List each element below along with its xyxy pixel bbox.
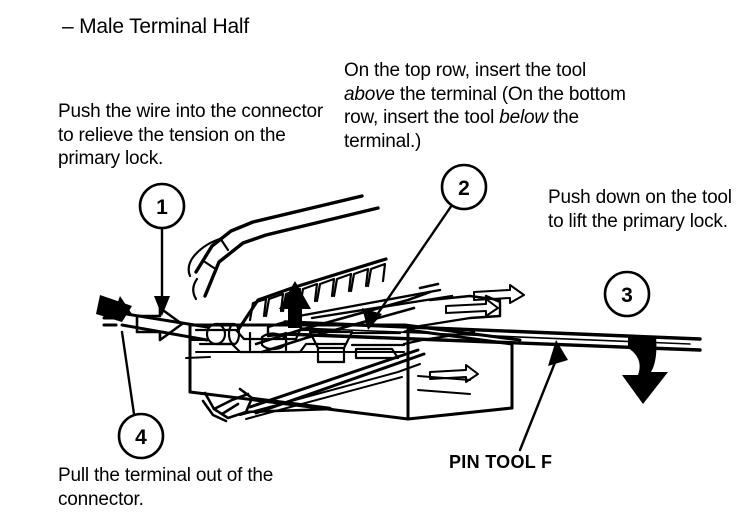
pin-tool-label: PIN TOOL F (449, 452, 552, 473)
note-2-part-1: On the top row, insert the tool (344, 60, 586, 81)
flow-arrow-small-4 (186, 357, 210, 358)
instruction-note-2: On the top row, insert the tool above th… (344, 59, 640, 153)
callout-circle-2: 2 (442, 165, 486, 209)
note-2-emphasis-below: below (499, 107, 548, 128)
instruction-note-1: Push the wire into the connector to reli… (58, 100, 338, 171)
push-down-arrow (622, 336, 668, 404)
page-title: – Male Terminal Half (62, 14, 249, 40)
wire-pull-arrow (96, 295, 132, 322)
callout-4-label: 4 (135, 426, 147, 449)
callout-4-leader (122, 332, 134, 414)
callout-2-label: 2 (458, 177, 470, 200)
flow-arrow-small-2 (446, 299, 498, 316)
pin-tool-leader (520, 350, 560, 450)
callout-circle-4: 4 (119, 414, 163, 458)
instruction-note-4: Pull the terminal out of the connector. (58, 464, 318, 511)
note-2-emphasis-above: above (344, 84, 395, 105)
wire-crimp-barrel (207, 324, 239, 344)
callout-circle-1: 1 (140, 184, 184, 228)
diagram-page: 1 2 3 4 – Male Terminal Half Push the wi… (0, 0, 752, 532)
callout-circle-3: 3 (605, 272, 649, 316)
callout-1-label: 1 (156, 196, 168, 219)
callout-3-label: 3 (621, 284, 633, 307)
instruction-note-3: Push down on the tool to lift the primar… (548, 186, 748, 233)
